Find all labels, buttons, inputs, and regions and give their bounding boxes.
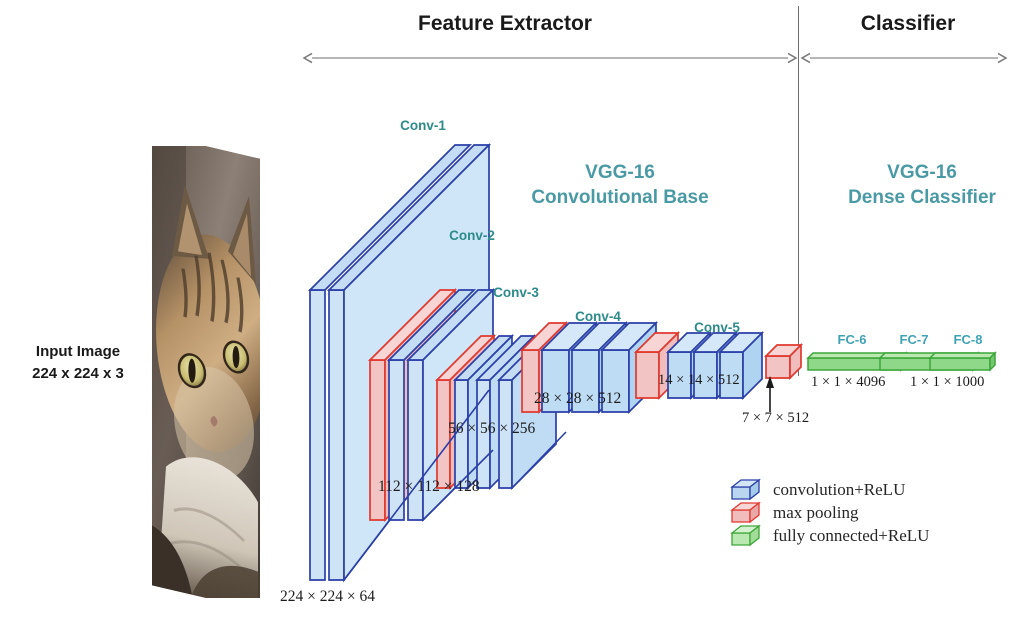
- dim-conv-5: 14 × 14 × 512: [658, 372, 740, 389]
- dim-fc-6-7: 1 × 1 × 4096: [811, 374, 885, 391]
- legend-item-maxpool: max pooling: [730, 501, 929, 524]
- maxpool-5: [766, 345, 801, 378]
- legend-item-fully-connected: fully connected+ReLU: [730, 524, 929, 547]
- dim-conv-3: 56 × 56 × 256: [448, 420, 535, 438]
- final-pool-pointer-arrow: [766, 376, 774, 412]
- conv-label-conv-4: Conv-4: [563, 309, 633, 324]
- fc8-bar: [930, 353, 995, 370]
- dim-conv-4: 28 × 28 × 512: [534, 390, 621, 408]
- conv-label-conv-5: Conv-5: [682, 320, 752, 335]
- legend-label-fully-connected: fully connected+ReLU: [773, 526, 929, 546]
- legend: convolution+ReLU max pooling fully conne…: [730, 478, 929, 547]
- red-cube-icon: [730, 502, 764, 524]
- conv-label-conv-2: Conv-2: [437, 228, 507, 243]
- dim-conv-2: 112 × 112 × 128: [378, 478, 480, 496]
- dim-final-pool: 7 × 7 × 512: [742, 410, 809, 427]
- conv-label-conv-1: Conv-1: [388, 118, 458, 133]
- dim-conv-1: 224 × 224 × 64: [280, 588, 375, 606]
- fc-label-fc-7: FC-7: [884, 332, 944, 347]
- legend-label-maxpool: max pooling: [773, 503, 858, 523]
- fc-label-fc-8: FC-8: [938, 332, 998, 347]
- legend-label-convolution: convolution+ReLU: [773, 480, 905, 500]
- vgg16-architecture-diagram: Feature Extractor Classifier VGG-16 Conv…: [0, 0, 1024, 626]
- green-cube-icon: [730, 525, 764, 547]
- legend-item-convolution: convolution+ReLU: [730, 478, 929, 501]
- blue-cube-icon: [730, 479, 764, 501]
- conv-label-conv-3: Conv-3: [481, 285, 551, 300]
- dim-fc-8: 1 × 1 × 1000: [910, 374, 984, 391]
- fc-label-fc-6: FC-6: [822, 332, 882, 347]
